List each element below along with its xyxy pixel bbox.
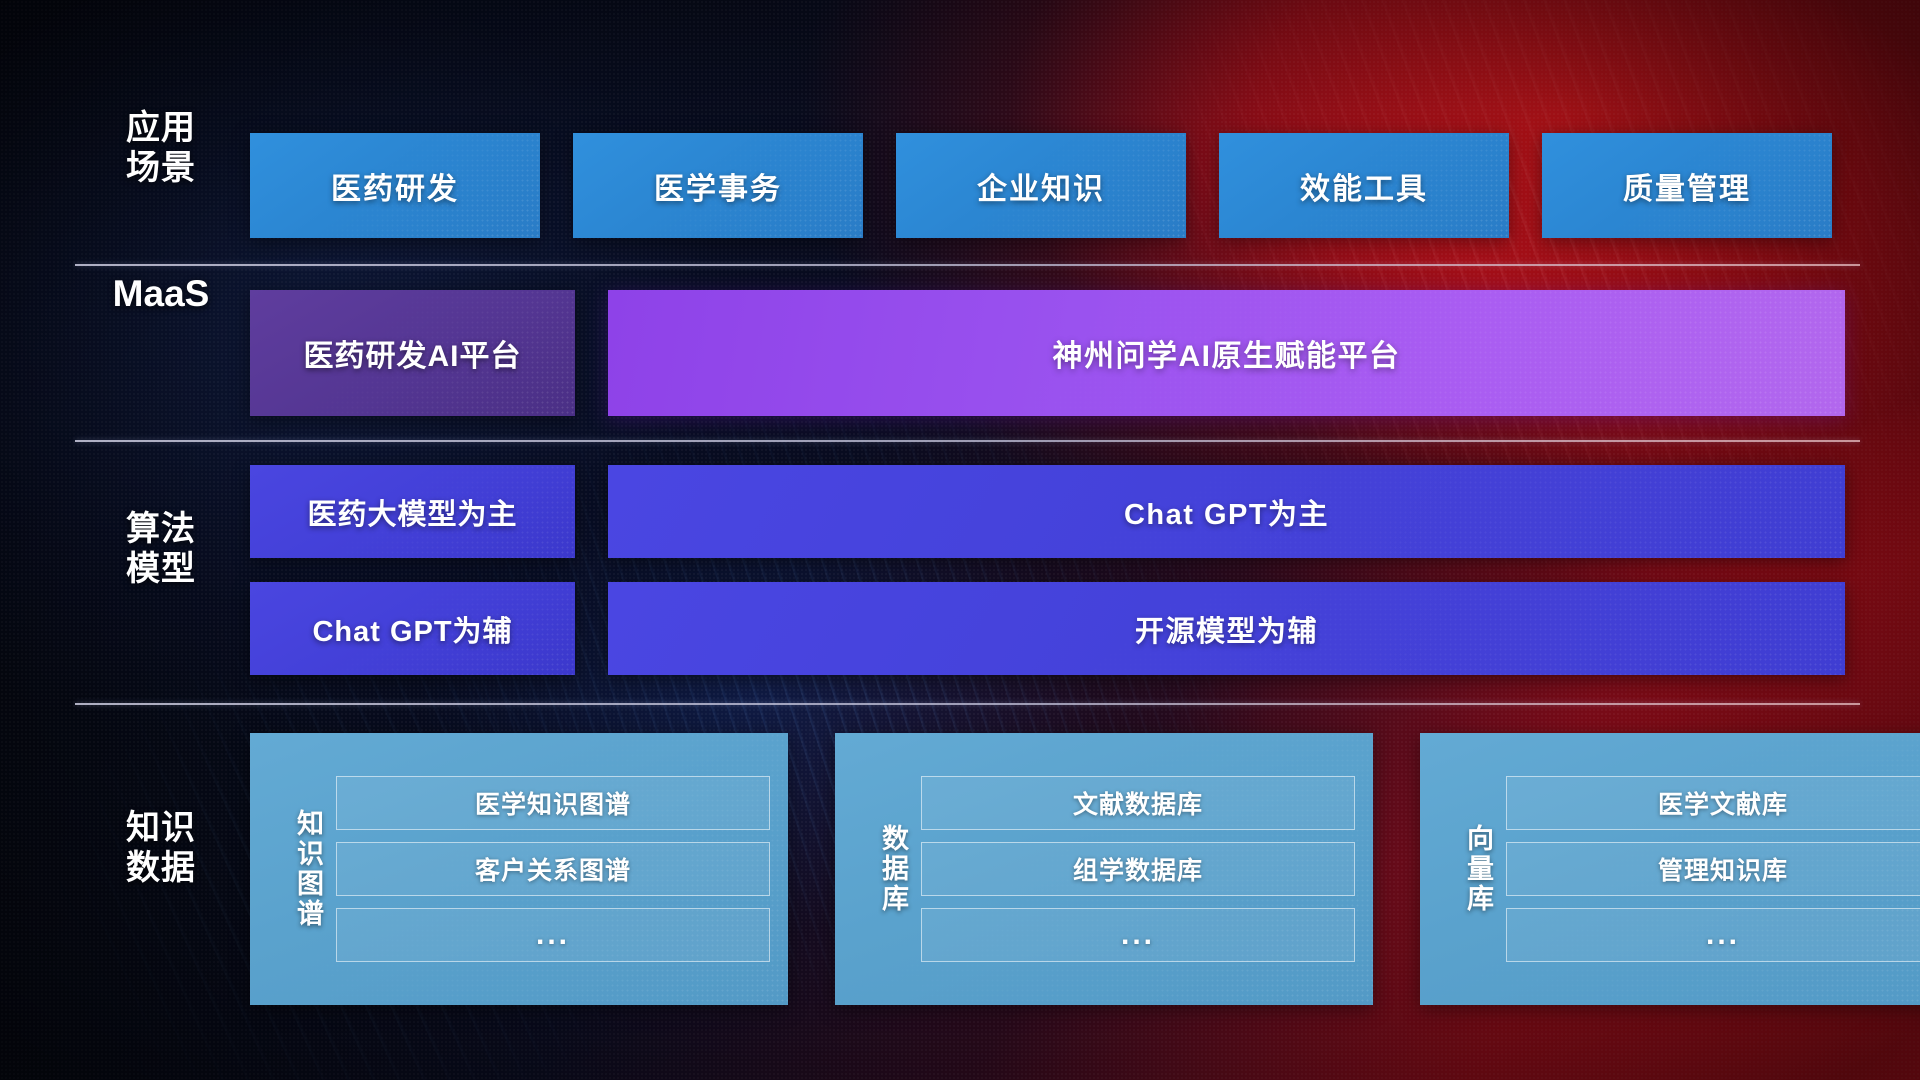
row-label-line: 模型 [75, 549, 247, 589]
maas-box-drug-ai-platform[interactable]: 医药研发AI平台 [250, 290, 575, 416]
app-box-enterprise-knowledge[interactable]: 企业知识 [896, 133, 1186, 238]
row-label-line: 数据 [75, 848, 247, 888]
divider-2 [75, 440, 1860, 442]
algo-box-opensource-secondary[interactable]: 开源模型为辅 [608, 582, 1845, 675]
knowledge-panel-vertical-label: 知识图谱 [270, 809, 322, 929]
knowledge-item-customer-relation-graph[interactable]: 客户关系图谱 [336, 842, 770, 896]
algo-box-chatgpt-secondary[interactable]: Chat GPT为辅 [250, 582, 575, 675]
row-label-line: 知识 [75, 808, 247, 848]
algorithm-row-primary: 医药大模型为主 Chat GPT为主 [250, 465, 1845, 558]
row-label-line: MaaS [75, 272, 247, 316]
row-label-algorithm-model: 算法 模型 [75, 509, 247, 589]
application-box-list: 医药研发 医学事务 企业知识 效能工具 质量管理 [250, 133, 1832, 238]
knowledge-panel-database[interactable]: 数据库 文献数据库 组学数据库 ... [835, 733, 1373, 1005]
divider-1 [75, 264, 1860, 266]
knowledge-item-literature-database[interactable]: 文献数据库 [921, 776, 1355, 830]
knowledge-item-more[interactable]: ... [921, 908, 1355, 962]
app-box-medical-affairs[interactable]: 医学事务 [573, 133, 863, 238]
knowledge-item-list: 医学知识图谱 客户关系图谱 ... [336, 776, 770, 962]
app-box-drug-rd[interactable]: 医药研发 [250, 133, 540, 238]
row-label-knowledge-data: 知识 数据 [75, 808, 247, 888]
knowledge-panel-vertical-label: 向量库 [1440, 824, 1492, 914]
knowledge-item-medical-literature-store[interactable]: 医学文献库 [1506, 776, 1920, 830]
maas-box-shenzhou-platform[interactable]: 神州问学AI原生赋能平台 [608, 290, 1845, 416]
knowledge-item-medical-knowledge-graph[interactable]: 医学知识图谱 [336, 776, 770, 830]
knowledge-item-list: 医学文献库 管理知识库 ... [1506, 776, 1920, 962]
knowledge-item-more[interactable]: ... [336, 908, 770, 962]
row-label-line: 应用 [75, 108, 247, 148]
knowledge-item-omics-database[interactable]: 组学数据库 [921, 842, 1355, 896]
app-box-efficiency-tools[interactable]: 效能工具 [1219, 133, 1509, 238]
row-label-line: 算法 [75, 509, 247, 549]
algo-box-chatgpt-primary[interactable]: Chat GPT为主 [608, 465, 1845, 558]
knowledge-panel-list: 知识图谱 医学知识图谱 客户关系图谱 ... 数据库 文献数据库 组学数据库 .… [250, 733, 1920, 1005]
algorithm-row-secondary: Chat GPT为辅 开源模型为辅 [250, 582, 1845, 675]
maas-box-list: 医药研发AI平台 神州问学AI原生赋能平台 [250, 290, 1845, 416]
algo-box-pharma-llm-primary[interactable]: 医药大模型为主 [250, 465, 575, 558]
knowledge-panel-vertical-label: 数据库 [855, 824, 907, 914]
knowledge-item-more[interactable]: ... [1506, 908, 1920, 962]
row-label-maas: MaaS [75, 272, 247, 316]
diagram-canvas: 应用 场景 医药研发 医学事务 企业知识 效能工具 质量管理 MaaS 医药研发… [0, 0, 1920, 1080]
algorithm-box-list: 医药大模型为主 Chat GPT为主 Chat GPT为辅 开源模型为辅 [250, 465, 1845, 675]
row-label-application-scenario: 应用 场景 [75, 108, 247, 188]
knowledge-panel-vector-store[interactable]: 向量库 医学文献库 管理知识库 ... [1420, 733, 1920, 1005]
divider-3 [75, 703, 1860, 705]
row-label-line: 场景 [75, 148, 247, 188]
app-box-quality-management[interactable]: 质量管理 [1542, 133, 1832, 238]
knowledge-item-list: 文献数据库 组学数据库 ... [921, 776, 1355, 962]
knowledge-item-management-knowledge-base[interactable]: 管理知识库 [1506, 842, 1920, 896]
knowledge-panel-knowledge-graph[interactable]: 知识图谱 医学知识图谱 客户关系图谱 ... [250, 733, 788, 1005]
